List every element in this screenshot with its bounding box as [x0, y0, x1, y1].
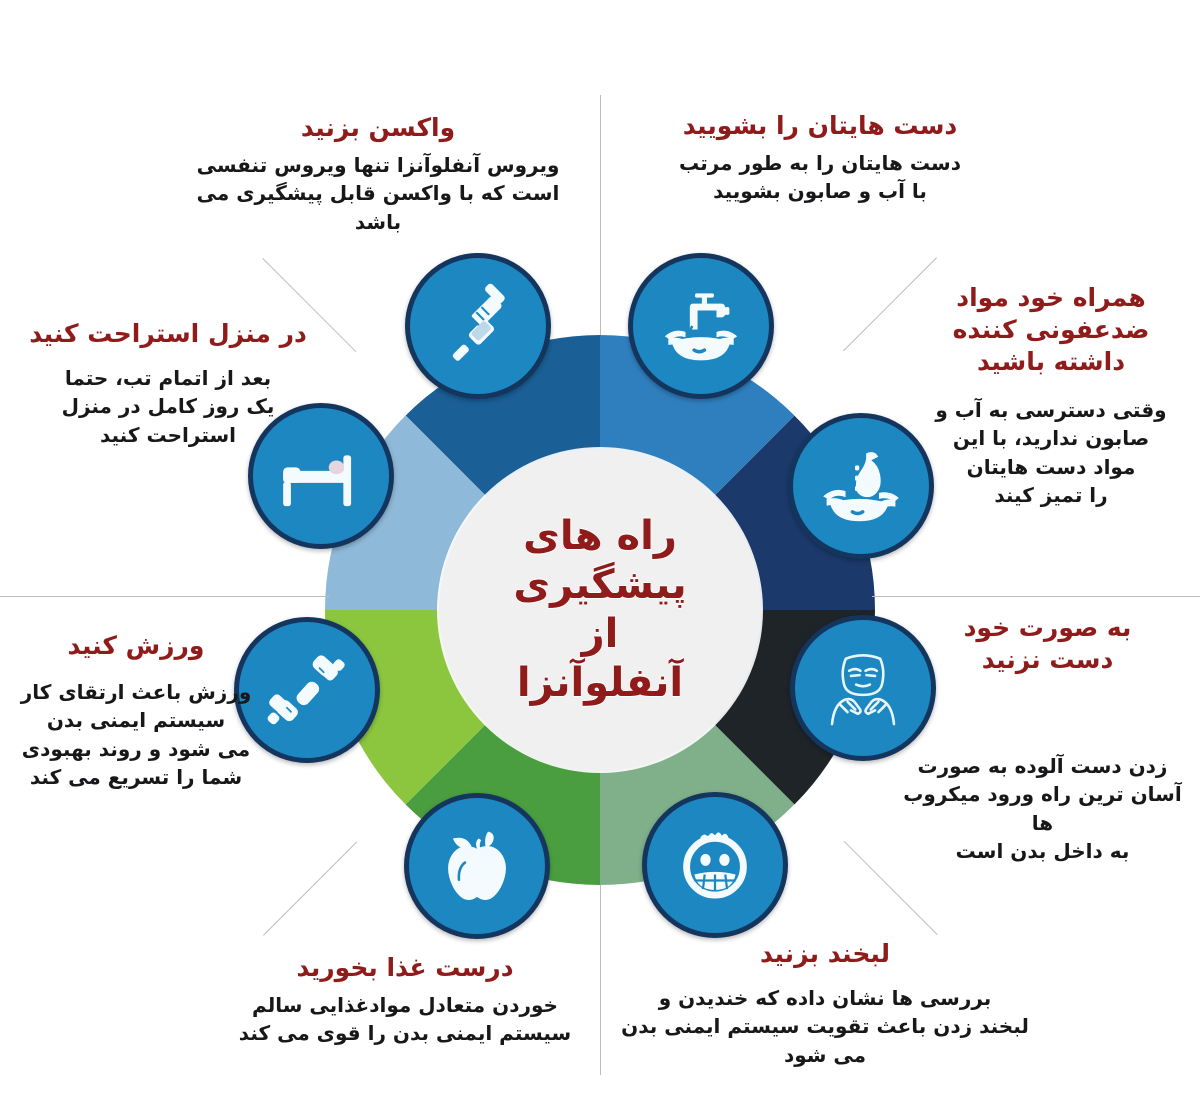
- label-title-dont-touch-face: به صورت خود دست نزنید: [905, 612, 1190, 676]
- label-block-dont-touch-face: به صورت خود دست نزنید: [905, 612, 1190, 683]
- faucet-handwash-icon: [658, 283, 744, 369]
- label-title-wash-hands: دست هایتان را بشویید: [620, 110, 1020, 142]
- label-desc-rest-at-home: بعد از اتمام تب، حتما یک روز کامل در منز…: [8, 364, 328, 449]
- center-title-hub: راه های پیشگیری از آنفلوآنزا: [439, 449, 761, 771]
- center-title-line-3: از: [582, 610, 619, 659]
- label-block-wash-hands: دست هایتان را بشویید دست هایتان را به طو…: [620, 110, 1020, 206]
- label-title-eat-well: درست غذا بخورید: [210, 952, 600, 984]
- infographic-canvas: راه های پیشگیری از آنفلوآنزا: [0, 0, 1200, 1099]
- center-title-line-2: پیشگیری: [513, 561, 686, 610]
- label-title-smile: لبخند بزنید: [610, 938, 1040, 970]
- label-block-rest-at-home: در منزل استراحت کنید بعد از اتمام تب، حت…: [8, 318, 328, 449]
- label-desc-wash-hands: دست هایتان را به طور مرتب با آب و صابون …: [620, 149, 1020, 206]
- divider-diagonal-bl: [263, 842, 357, 936]
- icon-bubble-eat-well[interactable]: [404, 793, 550, 939]
- label-title-vaccinate: واکسن بزنید: [178, 112, 578, 144]
- syringe-icon: [435, 283, 521, 369]
- center-title-line-1: راه های: [523, 512, 677, 561]
- sanitizer-bottle-icon: [818, 443, 904, 529]
- icon-bubble-wash-hands[interactable]: [628, 253, 774, 399]
- label-title-exercise: ورزش کنید: [12, 630, 260, 662]
- label-desc-exercise: ورزش باعث ارتقای کار سیستم ایمنی بدن می …: [12, 678, 260, 792]
- label-desc-smile: بررسی ها نشان داده که خندیدن و لبخند زدن…: [610, 984, 1040, 1069]
- label-desc-eat-well: خوردن متعادل موادغذایی سالم سیستم ایمنی …: [210, 991, 600, 1048]
- icon-bubble-smile[interactable]: [642, 792, 788, 938]
- label-block-eat-well: درست غذا بخورید خوردن متعادل موادغذایی س…: [210, 952, 600, 1048]
- label-block-smile: لبخند بزنید بررسی ها نشان داده که خندیدن…: [610, 938, 1040, 1069]
- face-hands-icon: [820, 645, 906, 731]
- divider-horizontal-left: [0, 596, 330, 597]
- icon-bubble-vaccinate[interactable]: [405, 253, 551, 399]
- label-title-sanitizer: همراه خود مواد ضدعفونی کننده داشته باشید: [915, 282, 1187, 378]
- dumbbell-icon: [264, 647, 350, 733]
- smiling-face-icon: [672, 822, 758, 908]
- label-desc-dont-touch-face: زدن دست آلوده به صورت آسان ترین راه ورود…: [890, 752, 1195, 866]
- divider-horizontal-right: [872, 596, 1200, 597]
- label-title-rest-at-home: در منزل استراحت کنید: [8, 318, 328, 350]
- label-block-vaccinate: واکسن بزنید ویروس آنفلوآنزا تنها ویروس ت…: [178, 112, 578, 236]
- label-block-sanitizer: همراه خود مواد ضدعفونی کننده داشته باشید…: [915, 282, 1187, 510]
- apple-icon: [434, 823, 520, 909]
- icon-bubble-sanitizer[interactable]: [788, 413, 934, 559]
- label-desc-block-dont-touch-face: زدن دست آلوده به صورت آسان ترین راه ورود…: [890, 752, 1195, 866]
- label-desc-vaccinate: ویروس آنفلوآنزا تنها ویروس تنفسی است که …: [178, 151, 578, 236]
- center-title-line-4: آنفلوآنزا: [517, 659, 683, 708]
- label-desc-sanitizer: وقتی دسترسی به آب و صابون ندارید، با این…: [915, 396, 1187, 510]
- divider-vertical-top: [600, 95, 601, 335]
- divider-vertical-bottom: [600, 885, 601, 1075]
- label-block-exercise: ورزش کنید ورزش باعث ارتقای کار سیستم ایم…: [12, 630, 260, 792]
